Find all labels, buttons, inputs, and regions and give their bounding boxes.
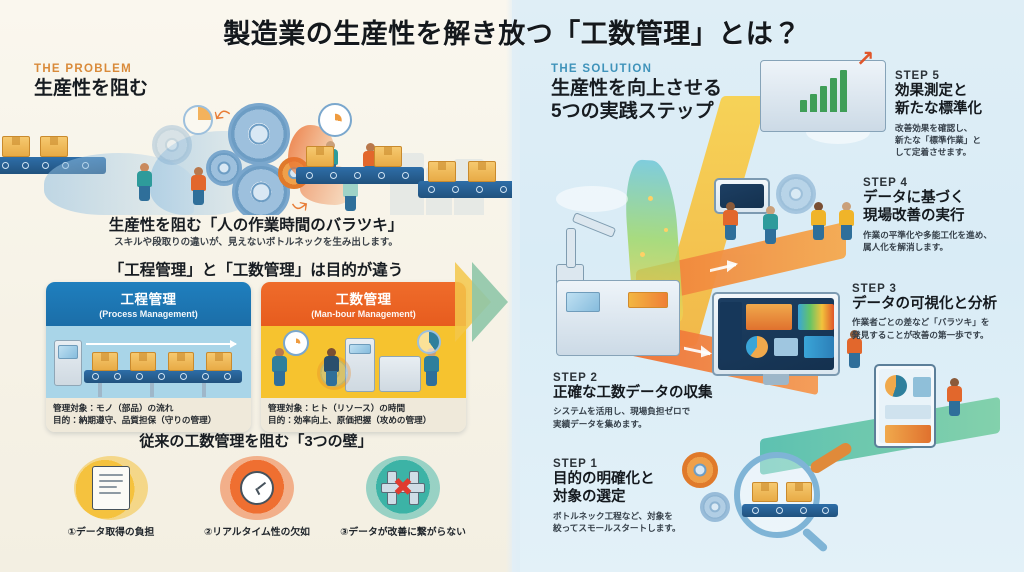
trend-up-arrow-icon: ↗ bbox=[856, 46, 874, 72]
walls-heading: 従来の工数管理を阻む「3つの壁」 bbox=[0, 430, 512, 451]
problem-lead-line: 生産性を阻む「人の作業時間のバラツキ」 bbox=[0, 213, 512, 235]
solution-eyebrow: THE SOLUTION bbox=[551, 63, 722, 75]
product-box bbox=[752, 482, 778, 502]
conveyor-belt-right bbox=[418, 181, 512, 198]
product-box bbox=[428, 161, 456, 182]
step-2[interactable]: STEP 2 正確な工数データの収集 システムを活用し、現場負担ゼロで 実績デー… bbox=[553, 372, 768, 430]
product-box bbox=[2, 136, 30, 157]
bar-widget bbox=[885, 425, 931, 443]
solution-heading-block: THE SOLUTION 生産性を向上させる 5つの実践ステップ bbox=[551, 63, 722, 123]
step-1-title-line1: 目的の明確化と bbox=[553, 471, 753, 488]
product-box bbox=[374, 146, 402, 167]
donut-widget bbox=[885, 375, 907, 397]
machine-panel bbox=[566, 292, 600, 312]
step-1-title-line2: 対象の選定 bbox=[553, 489, 753, 506]
spark-dot bbox=[640, 252, 645, 257]
bar-widget bbox=[804, 336, 834, 358]
card-conveyor-belt bbox=[84, 370, 242, 383]
card-process-subtitle: (Process Management) bbox=[50, 309, 247, 319]
tablet-device bbox=[874, 364, 936, 448]
wall-label: ③データが改善に繋がらない bbox=[334, 524, 472, 538]
product-box bbox=[786, 482, 812, 502]
bar-widget bbox=[913, 377, 931, 397]
step-5-title-line2: 新たな標準化 bbox=[895, 101, 1021, 118]
robot-arm-illustration bbox=[556, 208, 636, 288]
card-manhour-illustration bbox=[261, 326, 466, 398]
card-product-box bbox=[130, 352, 156, 371]
curved-arrow-icon: ⤷ bbox=[208, 103, 238, 130]
card-process-management[interactable]: 工程管理 (Process Management) bbox=[46, 282, 251, 432]
conveyor-belt-step1 bbox=[742, 504, 838, 517]
step-4[interactable]: STEP 4 データに基づく 現場改善の実行 作業の平準化や多能工化を進め、 属… bbox=[863, 177, 1021, 253]
card-process-purpose: 目的：納期遵守、品質担保（守りの管理） bbox=[53, 414, 244, 426]
comparison-cards: 工程管理 (Process Management) bbox=[46, 282, 466, 432]
card-process-illustration bbox=[46, 326, 251, 398]
line-chart-widget bbox=[746, 304, 792, 330]
step-5-desc-line3: して定着させます。 bbox=[895, 146, 1021, 158]
document-pen-icon bbox=[74, 456, 148, 520]
card-product-box bbox=[92, 352, 118, 371]
step-1-desc-line1: ボトルネック工程など、対象を bbox=[553, 510, 753, 522]
step-4-desc-line2: 属人化を解消します。 bbox=[863, 241, 1021, 253]
conveyor-leg bbox=[98, 383, 102, 397]
card-manhour-management[interactable]: 工数管理 (Man-bour Management) bbox=[261, 282, 466, 432]
clock-delay-icon bbox=[220, 456, 294, 520]
card-process-target: 管理対象：モノ（部品）の流れ bbox=[53, 402, 244, 414]
step-2-desc-line1: システムを活用し、現場負担ゼロで bbox=[553, 405, 768, 417]
step-3-number: STEP 3 bbox=[852, 283, 1022, 295]
heatmap-widget bbox=[798, 304, 834, 330]
product-box bbox=[40, 136, 68, 157]
card-manhour-header: 工数管理 (Man-bour Management) bbox=[261, 282, 466, 326]
card-manhour-footer: 管理対象：ヒト（リソース）の時間 目的：効率向上、原価把握（攻めの管理） bbox=[261, 398, 466, 432]
step-5-number: STEP 5 bbox=[895, 70, 1021, 82]
solution-headline-line1: 生産性を向上させる bbox=[551, 77, 722, 100]
wall-label: ②リアルタイム性の欠如 bbox=[188, 524, 326, 538]
flow-direction-arrow bbox=[86, 343, 236, 345]
product-box bbox=[468, 161, 496, 182]
conveyor-belt-mid bbox=[296, 167, 424, 184]
list-widget bbox=[774, 338, 798, 356]
wall-item-no-improvement[interactable]: ✖ ③データが改善に繋がらない bbox=[334, 456, 472, 538]
clock-icon bbox=[318, 103, 352, 137]
walls-list: ①データ取得の負担 ②リアルタイム性の欠如 ✖ ③データが改善に繋がらない bbox=[42, 456, 472, 538]
step-1-desc-line2: 絞ってスモールスタートします。 bbox=[553, 522, 753, 534]
step-4-desc-line1: 作業の平準化や多能工化を進め、 bbox=[863, 229, 1021, 241]
wall-item-data-burden[interactable]: ①データ取得の負担 bbox=[42, 456, 180, 538]
step-2-title-line1: 正確な工数データの収集 bbox=[553, 385, 768, 402]
card-manhour-purpose: 目的：効率向上、原価把握（攻めの管理） bbox=[268, 414, 459, 426]
bar-widget bbox=[885, 405, 931, 419]
machine-unit-shape bbox=[379, 356, 421, 392]
sidebar-widget bbox=[720, 302, 742, 360]
card-process-footer: 管理対象：モノ（部品）の流れ 目的：納期遵守、品質担保（守りの管理） bbox=[46, 398, 251, 432]
gear-icon bbox=[776, 174, 816, 214]
step-1[interactable]: STEP 1 目的の明確化と 対象の選定 ボトルネック工程など、対象を 絞ってス… bbox=[553, 458, 753, 534]
infographic-poster: 製造業の生産性を解き放つ「工数管理」とは？ THE PROBLEM 生産性を阻む bbox=[0, 0, 1024, 572]
card-manhour-subtitle: (Man-bour Management) bbox=[265, 309, 462, 319]
card-process-header: 工程管理 (Process Management) bbox=[46, 282, 251, 326]
broken-pipe-icon: ✖ bbox=[366, 456, 440, 520]
gauge-icon bbox=[417, 330, 441, 354]
card-product-box bbox=[206, 352, 232, 371]
step-3-title-line1: データの可視化と分析 bbox=[852, 296, 1022, 313]
machine-screen-shape bbox=[349, 344, 371, 354]
step-4-title-line1: データに基づく bbox=[863, 190, 1021, 207]
tablet-screen bbox=[879, 369, 931, 443]
document-shape bbox=[92, 466, 130, 510]
cross-mark-icon: ✖ bbox=[393, 476, 414, 501]
product-box bbox=[306, 146, 334, 167]
panel-divider bbox=[506, 0, 520, 572]
comparison-heading: 「工程管理」と「工数管理」は目的が違う bbox=[0, 258, 512, 280]
spark-dot bbox=[648, 196, 653, 201]
machine-panel bbox=[628, 292, 668, 308]
wall-label: ①データ取得の負担 bbox=[42, 524, 180, 538]
growth-bar-chart bbox=[800, 66, 847, 112]
step-5[interactable]: STEP 5 効果測定と 新たな標準化 改善効果を確認し、 新たな「標準作業」と… bbox=[895, 70, 1021, 158]
problem-lead-sub: スキルや段取りの違いが、見えないボトルネックを生み出します。 bbox=[0, 234, 512, 248]
gear-icon bbox=[152, 125, 192, 165]
step-2-desc-line2: 実績データを集めます。 bbox=[553, 418, 768, 430]
card-manhour-target: 管理対象：ヒト（リソース）の時間 bbox=[268, 402, 459, 414]
dashboard-screen bbox=[718, 298, 834, 370]
problem-illustration: ⤷ ⤷ bbox=[0, 95, 512, 215]
problem-eyebrow: THE PROBLEM bbox=[34, 63, 148, 75]
conveyor-leg bbox=[150, 383, 154, 397]
solution-headline-line2: 5つの実践ステップ bbox=[551, 100, 722, 123]
step-2-number: STEP 2 bbox=[553, 372, 768, 384]
spark-dot bbox=[664, 228, 668, 232]
dashboard-monitor bbox=[712, 292, 840, 376]
card-product-box bbox=[168, 352, 194, 371]
machine-screen-shape bbox=[58, 345, 78, 359]
step-4-title-line2: 現場改善の実行 bbox=[863, 208, 1021, 225]
donut-widget bbox=[746, 336, 768, 358]
wall-item-realtime-gap[interactable]: ②リアルタイム性の欠如 bbox=[188, 456, 326, 538]
conveyor-leg bbox=[202, 383, 206, 397]
team-meeting-illustration bbox=[714, 172, 864, 246]
step-5-desc-line2: 新たな「標準作業」と bbox=[895, 134, 1021, 146]
step-5-desc-line1: 改善効果を確認し、 bbox=[895, 122, 1021, 134]
step-3-desc-line1: 作業者ごとの差など「バラツキ」を bbox=[852, 316, 1022, 328]
card-clock-icon bbox=[283, 330, 309, 356]
step-3[interactable]: STEP 3 データの可視化と分析 作業者ごとの差など「バラツキ」を 発見するこ… bbox=[852, 283, 1022, 341]
transition-chevron-green bbox=[472, 262, 508, 342]
card-manhour-title: 工数管理 bbox=[265, 288, 462, 308]
laptop-screen bbox=[714, 178, 770, 214]
clock-shape bbox=[240, 471, 274, 505]
step-4-number: STEP 4 bbox=[863, 177, 1021, 189]
step-5-title-line1: 効果測定と bbox=[895, 83, 1021, 100]
step-3-desc-line2: 発見することが改善の第一歩です。 bbox=[852, 329, 1022, 341]
step-1-number: STEP 1 bbox=[553, 458, 753, 470]
card-process-title: 工程管理 bbox=[50, 288, 247, 308]
